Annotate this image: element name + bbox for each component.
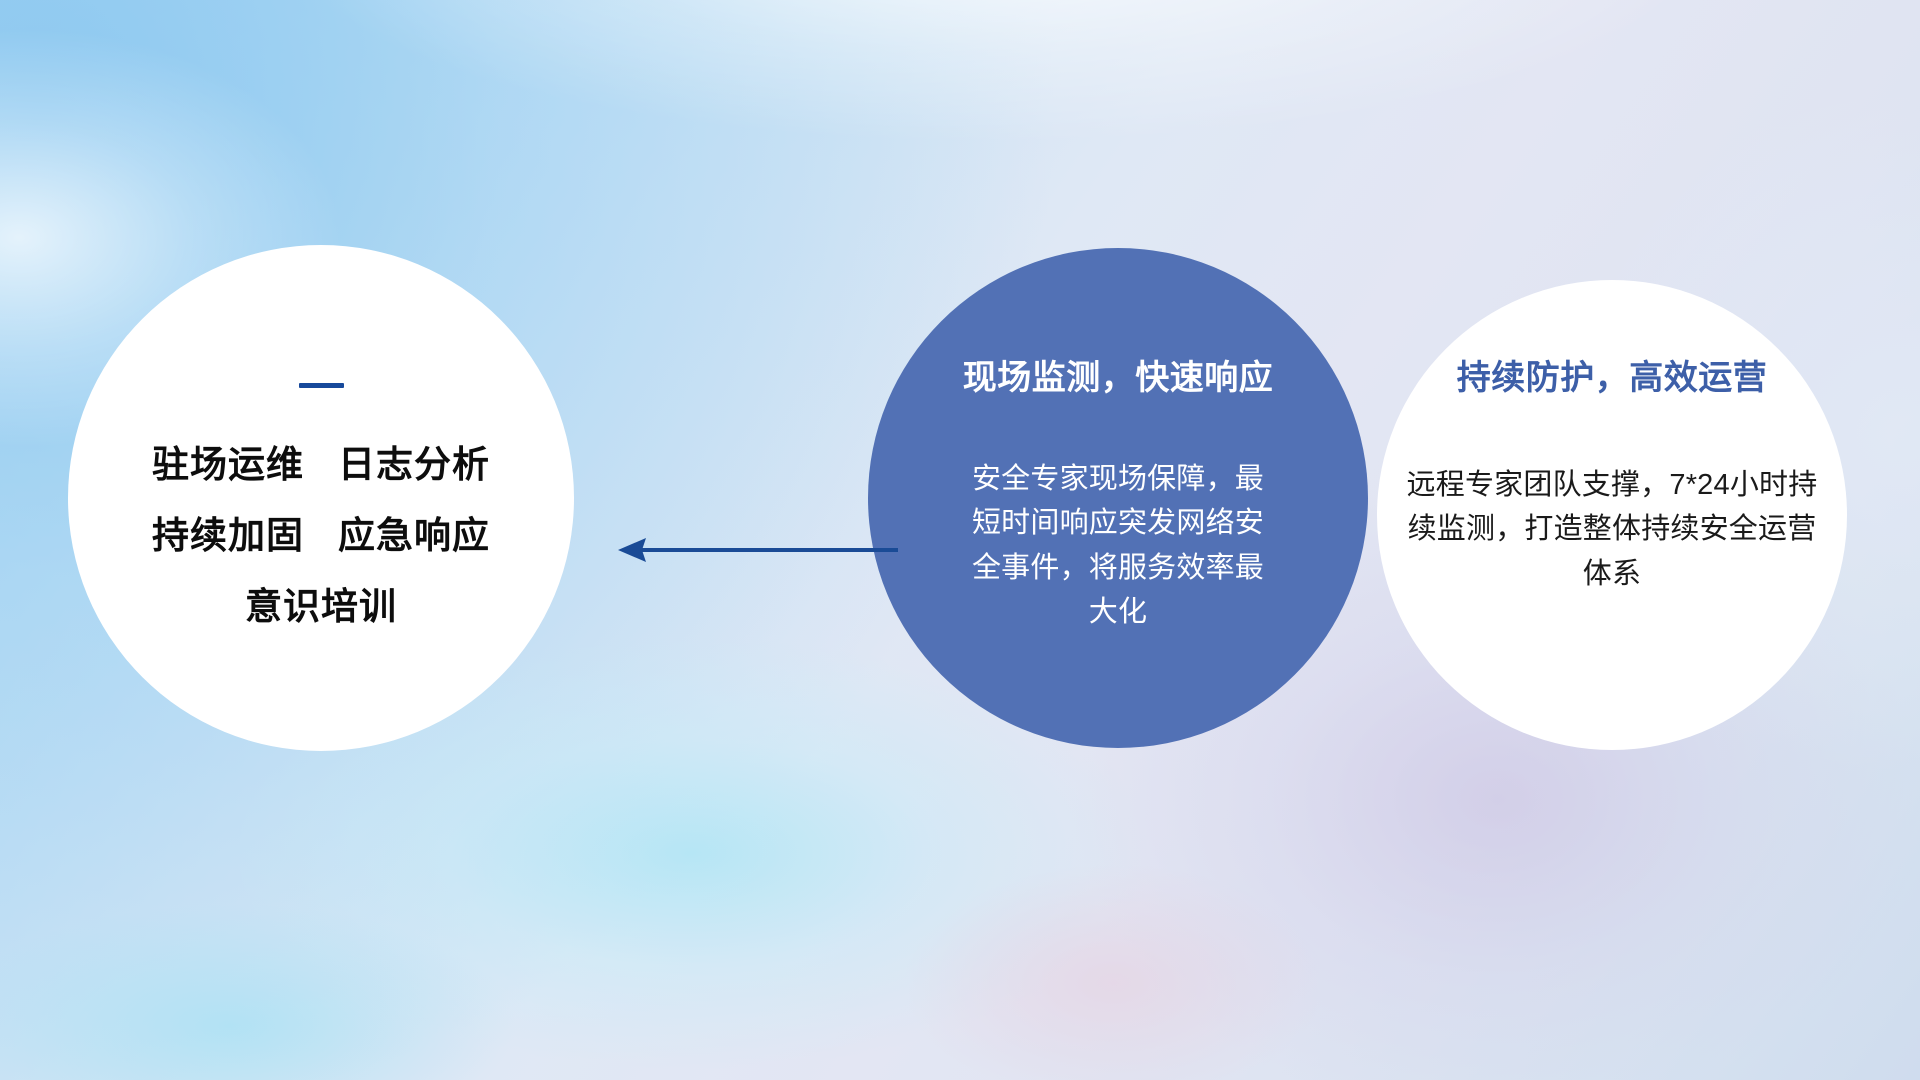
keyword-item: 驻场运维	[152, 446, 304, 483]
center-circle-content: 现场监测，快速响应 安全专家现场保障，最短时间响应突发网络安全事件，将服务效率最…	[868, 248, 1368, 748]
left-circle-content: 驻场运维 日志分析 持续加固 应急响应 意识培训	[68, 245, 574, 751]
accent-dash-icon	[299, 383, 344, 388]
keyword-row: 驻场运维 日志分析	[152, 446, 490, 483]
keyword-row: 意识培训	[245, 588, 397, 625]
keyword-item: 意识培训	[245, 588, 397, 625]
right-circle-title: 持续防护，高效运营	[1457, 360, 1768, 397]
center-circle-body: 安全专家现场保障，最短时间响应突发网络安全事件，将服务效率最大化	[968, 457, 1268, 633]
keyword-row: 持续加固 应急响应	[152, 517, 490, 554]
right-circle-content: 持续防护，高效运营 远程专家团队支撑，7*24小时持续监测，打造整体持续安全运营…	[1377, 280, 1847, 750]
flow-arrow-icon	[610, 520, 900, 580]
right-circle-body: 远程专家团队支撑，7*24小时持续监测，打造整体持续安全运营体系	[1402, 463, 1822, 595]
keyword-item: 日志分析	[338, 446, 490, 483]
flow-arrow	[610, 520, 900, 580]
center-circle-title: 现场监测，快速响应	[963, 360, 1274, 397]
keyword-item: 应急响应	[338, 517, 490, 554]
keyword-item: 持续加固	[152, 517, 304, 554]
slide-canvas: 驻场运维 日志分析 持续加固 应急响应 意识培训 现场监测，快速响应 安全专家现…	[0, 0, 1920, 1080]
